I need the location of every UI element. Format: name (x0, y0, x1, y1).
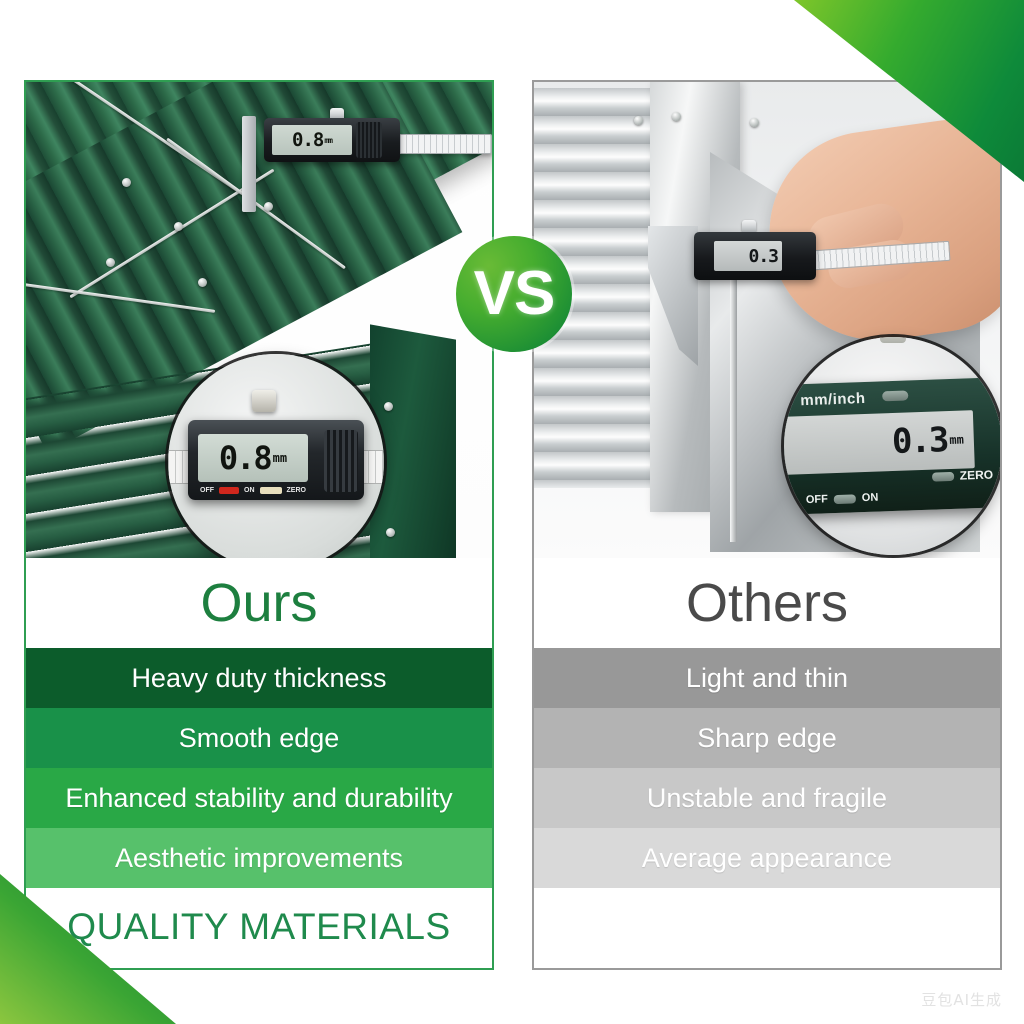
bolt (750, 118, 759, 127)
caliper-body-magnified: mm/inch 0.3mm OFF ON ZERO (784, 377, 1000, 515)
feature-bar: Heavy duty thickness (26, 648, 492, 708)
caliper-buttons: OFF ON ZERO (200, 487, 306, 494)
caliper-display-ours: 0.8mm (272, 125, 352, 155)
panel-others: 0.3 mm/inch 0.3mm OFF ON (532, 80, 1002, 970)
title-others: Others (686, 572, 848, 634)
caliper-body-magnified: 0.8mm OFF ON ZERO (188, 420, 364, 500)
magnifier-circle-ours: 0.8mm OFF ON ZERO (168, 354, 384, 558)
title-row-ours: Ours (26, 558, 492, 648)
digital-caliper-others: 0.3 (694, 232, 816, 280)
caliper-zero-label: ZERO (959, 468, 993, 483)
bolt (384, 402, 393, 411)
caliper-jaw (242, 116, 256, 212)
caliper-body: 0.8mm (264, 118, 400, 162)
feature-label: Light and thin (686, 663, 848, 694)
caliper-display-magnified-others: 0.3mm (784, 410, 975, 475)
caliper-zero-label: ZERO (287, 487, 306, 494)
bed-corner-post (370, 324, 456, 558)
caliper-thumb-screw (252, 390, 276, 412)
caliper-on-label: ON (244, 487, 255, 494)
caliper-thumb-screw (880, 337, 906, 343)
feature-label: Aesthetic improvements (115, 843, 403, 874)
digital-caliper-ours: 0.8mm (264, 118, 400, 162)
caliper-zero-button (932, 471, 954, 481)
caliper-power-switch (834, 494, 856, 504)
feature-label: Unstable and fragile (647, 783, 887, 814)
feature-label: Smooth edge (179, 723, 340, 754)
caliper-value: 0.3 (748, 246, 778, 267)
bolt (106, 258, 115, 267)
watermark: 豆包AI生成 (921, 989, 1002, 1010)
feature-label: Enhanced stability and durability (65, 783, 452, 814)
feature-bar: Aesthetic improvements (26, 828, 492, 888)
caliper-off-label: OFF (200, 487, 214, 494)
bolt (198, 278, 207, 287)
caliper-unit: mm (949, 433, 964, 447)
title-row-others: Others (534, 558, 1000, 648)
bolt (634, 116, 643, 125)
feature-bar: Smooth edge (26, 708, 492, 768)
bolt (174, 222, 183, 231)
panel-ours: 0.8mm 0.8mm OFF ON ZERO (24, 80, 494, 970)
bolt (386, 528, 395, 537)
caliper-on-label: ON (862, 492, 879, 505)
feature-bar: Enhanced stability and durability (26, 768, 492, 828)
feature-bar: Unstable and fragile (534, 768, 1000, 828)
caliper-grip (356, 122, 382, 158)
caliper-unit: mm (324, 136, 332, 145)
quality-materials-label: QUALITY MATERIALS (67, 906, 450, 948)
footer-others (534, 888, 1000, 966)
caliper-value: 0.3 (891, 420, 948, 462)
feature-bars-others: Light and thin Sharp edge Unstable and f… (534, 648, 1000, 888)
feature-label: Average appearance (642, 843, 892, 874)
caliper-body: 0.3 (694, 232, 816, 280)
caliper-unit: mm (273, 451, 287, 465)
vs-label: VS (474, 263, 555, 325)
product-photo-others: 0.3 mm/inch 0.3mm OFF ON (534, 82, 1000, 558)
caliper-power-switch (219, 487, 239, 494)
feature-bar: Average appearance (534, 828, 1000, 888)
caliper-zero-button (260, 487, 282, 494)
caliper-units-button (882, 390, 908, 401)
caliper-value: 0.8 (292, 129, 323, 151)
bolt (264, 202, 273, 211)
comparison-infographic: 0.8mm 0.8mm OFF ON ZERO (0, 0, 1024, 1024)
caliper-units-label: mm/inch (800, 390, 866, 409)
feature-bar: Light and thin (534, 648, 1000, 708)
magnifier-circle-others: mm/inch 0.3mm OFF ON ZERO (784, 337, 1000, 555)
footer-ours: QUALITY MATERIALS (26, 888, 492, 966)
caliper-display-magnified-ours: 0.8mm (198, 434, 308, 482)
caliper-zero-group: ZERO (932, 468, 994, 484)
feature-bars-ours: Heavy duty thickness Smooth edge Enhance… (26, 648, 492, 888)
caliper-value: 0.8 (219, 439, 271, 477)
bolt (122, 178, 131, 187)
title-ours: Ours (200, 572, 317, 634)
product-photo-ours: 0.8mm 0.8mm OFF ON ZERO (26, 82, 492, 558)
feature-bar: Sharp edge (534, 708, 1000, 768)
caliper-power-buttons: OFF ON (806, 492, 879, 507)
caliper-off-label: OFF (806, 493, 828, 506)
caliper-display-others: 0.3 (714, 241, 782, 271)
vs-badge: VS (456, 236, 572, 352)
caliper-grip (324, 430, 358, 492)
feature-label: Heavy duty thickness (131, 663, 386, 694)
feature-label: Sharp edge (697, 723, 837, 754)
bolt (672, 112, 681, 121)
